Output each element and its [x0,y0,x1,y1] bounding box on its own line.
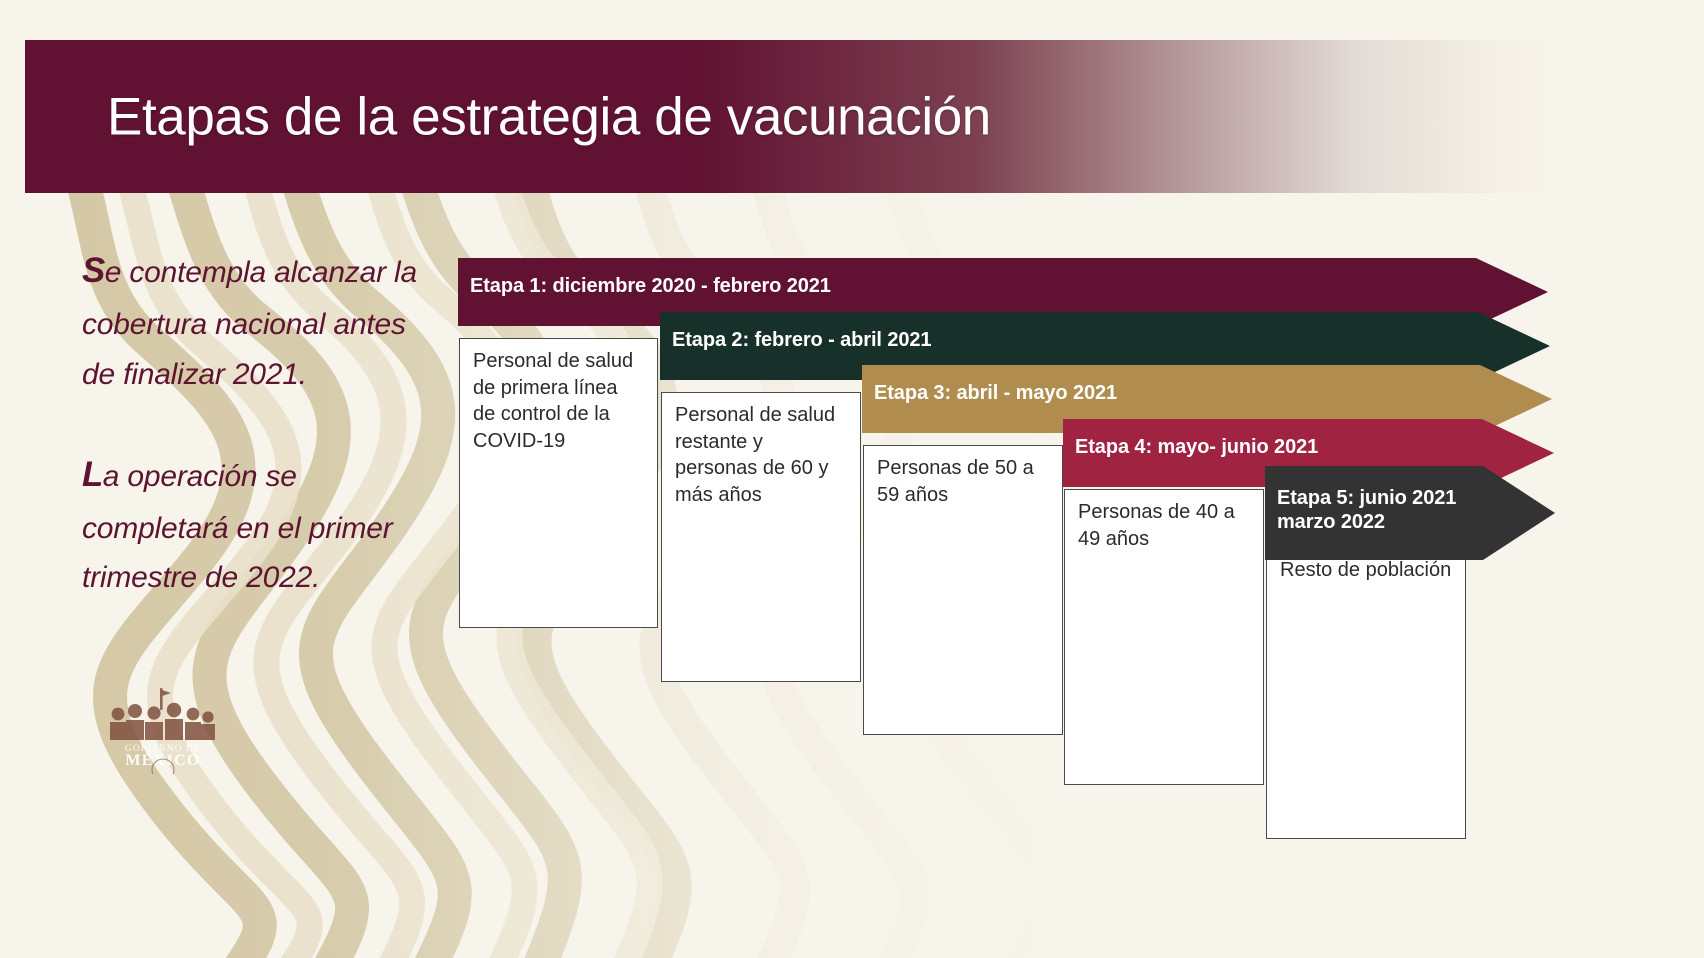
stage-4-body: Personas de 40 a 49 años [1064,489,1264,785]
stage-1-body: Personal de salud de primera línea de co… [459,338,658,628]
stage-2-title: Etapa 2: febrero - abril 2021 [672,328,931,352]
stage-5[interactable]: Etapa 5: junio 2021 marzo 2022 [1265,466,1555,560]
stage-1-title: Etapa 1: diciembre 2020 - febrero 2021 [470,274,831,298]
stage-5-title: Etapa 5: junio 2021 marzo 2022 [1277,486,1456,534]
stages-diagram: Etapa 1: diciembre 2020 - febrero 2021 P… [0,0,1704,958]
stage-4-title: Etapa 4: mayo- junio 2021 [1075,435,1318,459]
stage-3-title: Etapa 3: abril - mayo 2021 [874,381,1117,405]
slide-canvas: Etapas de la estrategia de vacunación Se… [0,0,1704,958]
stage-5-body: Resto de población [1266,547,1466,839]
stage-2-body: Personal de salud restante y personas de… [661,392,861,682]
stage-3-body: Personas de 50 a 59 años [863,445,1063,735]
